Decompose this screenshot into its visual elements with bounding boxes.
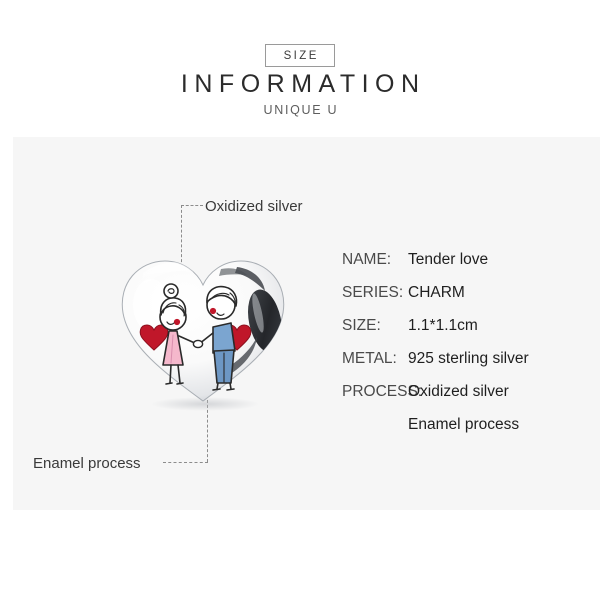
spec-label-name: NAME: [342, 251, 408, 269]
boy-foot-right [227, 389, 234, 390]
product-image-charm-bead [113, 243, 293, 413]
page-title: INFORMATION [0, 70, 600, 99]
joined-hands [193, 340, 202, 347]
size-badge: SIZE [265, 44, 335, 67]
size-badge-label: SIZE [281, 50, 319, 62]
spec-row-name: NAME: Tender love [342, 243, 592, 276]
boy-leg-left [217, 383, 218, 389]
spec-row-series: SERIES: CHARM [342, 276, 592, 309]
spec-value-process-continued: Enamel process [408, 416, 519, 434]
spec-value-series: CHARM [408, 284, 465, 302]
boy-foot-left [213, 389, 220, 390]
girl-leg-left [170, 365, 171, 383]
callout-label-enamel-process: Enamel process [33, 455, 141, 472]
callout-label-oxidized-silver: Oxidized silver [205, 198, 303, 215]
spec-label-size: SIZE: [342, 317, 408, 335]
boy-shirt [213, 323, 235, 353]
girl-cheek [174, 319, 180, 325]
boy-leg-right [230, 383, 231, 389]
girl-foot-right [177, 383, 183, 384]
spec-value-size: 1.1*1.1cm [408, 317, 478, 335]
spec-row-process-continued: Enamel process [342, 408, 592, 441]
product-information-page: SIZE INFORMATION UNIQUE U Oxidized silve… [0, 0, 600, 600]
specification-list: NAME: Tender love SERIES: CHARM SIZE: 1.… [342, 243, 592, 441]
page-header: SIZE INFORMATION UNIQUE U [0, 0, 600, 137]
spec-value-metal: 925 sterling silver [408, 350, 529, 368]
girl-foot-left [166, 383, 172, 384]
spec-label-series: SERIES: [342, 284, 408, 302]
enamel-process-leader-horizontal [163, 462, 208, 463]
girl-hair-bun [164, 284, 178, 298]
spec-value-name: Tender love [408, 251, 488, 269]
oxidized-silver-leader-horizontal [181, 205, 203, 206]
spec-row-process: PROCESS: Oxidized silver [342, 375, 592, 408]
spec-label-metal: METAL: [342, 350, 408, 368]
boy-cheek [210, 308, 216, 314]
page-subtitle: UNIQUE U [0, 103, 600, 117]
spec-label-process: PROCESS: [342, 383, 408, 401]
spec-value-process: Oxidized silver [408, 383, 509, 401]
spec-row-metal: METAL: 925 sterling silver [342, 342, 592, 375]
spec-row-size: SIZE: 1.1*1.1cm [342, 309, 592, 342]
